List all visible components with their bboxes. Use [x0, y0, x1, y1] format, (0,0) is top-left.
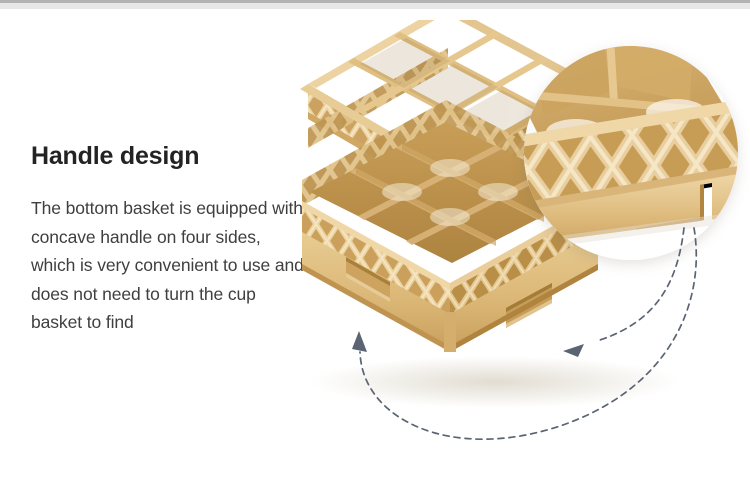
handle-detail-magnifier — [524, 46, 738, 260]
product-shadow — [310, 356, 680, 408]
top-bar-light — [0, 3, 750, 9]
product-feature-slide: Handle design The bottom basket is equip… — [0, 0, 750, 484]
